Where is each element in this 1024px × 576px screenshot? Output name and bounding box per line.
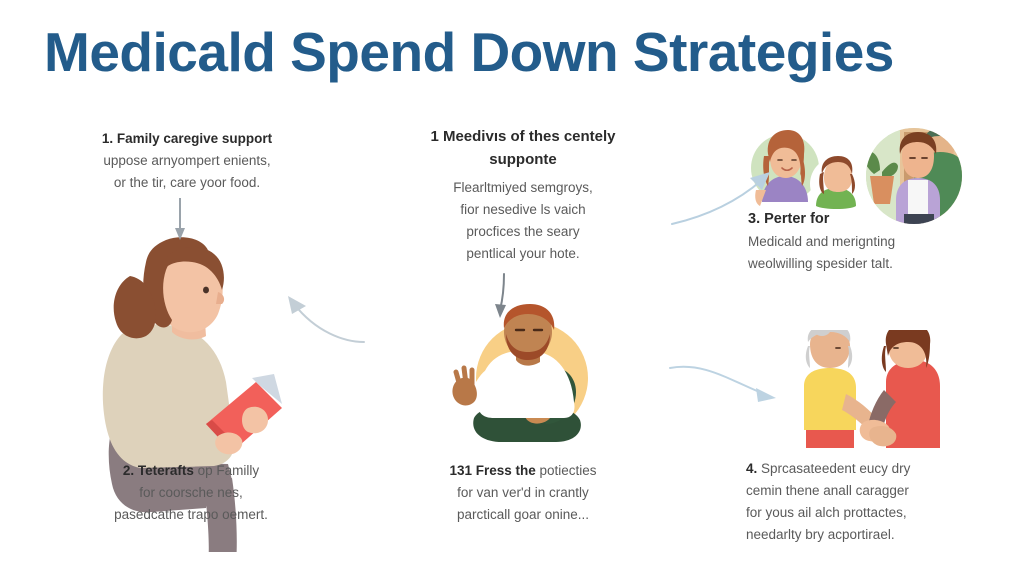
- top-left-line1: uppose arnyompert enients,: [62, 150, 312, 172]
- bottom-center-line3: parcticall goar onine...: [408, 504, 638, 526]
- text-block-bottom-right: 4. Sprcasateedent eucy dry cemin thene a…: [746, 458, 996, 545]
- top-center-line2: fior nesedive ls vaich: [418, 199, 628, 221]
- bottom-left-line2: for coorsche nes,: [62, 482, 320, 504]
- text-block-top-center: 1 Meedivıs of thes centely supponte Flea…: [418, 126, 628, 264]
- bottom-right-line1: Sprcasateedent eucy dry: [761, 461, 910, 476]
- bottom-right-line2: cemin thene anall caragger: [746, 480, 996, 502]
- text-block-top-left: 1. Family caregive support uppose arnyom…: [62, 128, 312, 194]
- arrow-curve-right-icon: [668, 352, 798, 418]
- top-center-line4: pentlical your hote.: [418, 243, 628, 265]
- top-center-line1: Flearltmiyed semgroys,: [418, 177, 628, 199]
- top-center-heading: 1 Meedivıs of thes centely supponte: [418, 126, 628, 171]
- arrow-down-short-icon: [168, 196, 208, 246]
- top-right-line1: Medicald and merignting: [748, 231, 988, 253]
- bottom-left-heading: 2. Teterafts: [123, 463, 194, 478]
- top-center-line3: procfices the seary: [418, 221, 628, 243]
- bottom-center-first-line: 131 Fress the potiecties: [408, 460, 638, 482]
- bottom-right-heading: 4.: [746, 461, 757, 476]
- top-right-heading: 3. Perter for: [748, 208, 988, 231]
- illustration-man-sitting: [440, 300, 620, 450]
- text-block-top-right: 3. Perter for Medicald and merignting we…: [748, 208, 988, 275]
- top-left-line2: or the tir, care yoor food.: [62, 172, 312, 194]
- bottom-left-first-line: 2. Teterafts op Familly: [62, 460, 320, 482]
- bottom-left-line1: op Familly: [198, 463, 260, 478]
- bottom-right-line3: for yous ail alch prottactes,: [746, 502, 996, 524]
- top-left-heading: 1. Family caregive support: [62, 128, 312, 150]
- top-right-line2: weolwilling spesider talt.: [748, 253, 988, 275]
- bottom-right-line4: needarlty bry acportirael.: [746, 524, 996, 546]
- text-block-bottom-center: 131 Fress the potiecties for van ver'd i…: [408, 460, 638, 526]
- bottom-center-heading: 131 Fress the: [449, 463, 535, 478]
- infographic-canvas: Medicald Spend Down Strategies: [0, 0, 1024, 576]
- text-block-bottom-left: 2. Teterafts op Familly for coorsche nes…: [62, 460, 320, 526]
- illustration-holding-hands: [780, 330, 950, 450]
- page-title: Medicald Spend Down Strategies: [44, 22, 984, 83]
- arrow-curve-up-left-icon: [268, 290, 368, 350]
- bottom-left-line3: pasedcathe trapo oemert.: [62, 504, 320, 526]
- arrow-down-short-center-icon: [488, 272, 528, 324]
- bottom-center-line2: for van ver'd in crantly: [408, 482, 638, 504]
- bottom-right-first-line: 4. Sprcasateedent eucy dry: [746, 458, 996, 480]
- bottom-center-line1: potiecties: [540, 463, 597, 478]
